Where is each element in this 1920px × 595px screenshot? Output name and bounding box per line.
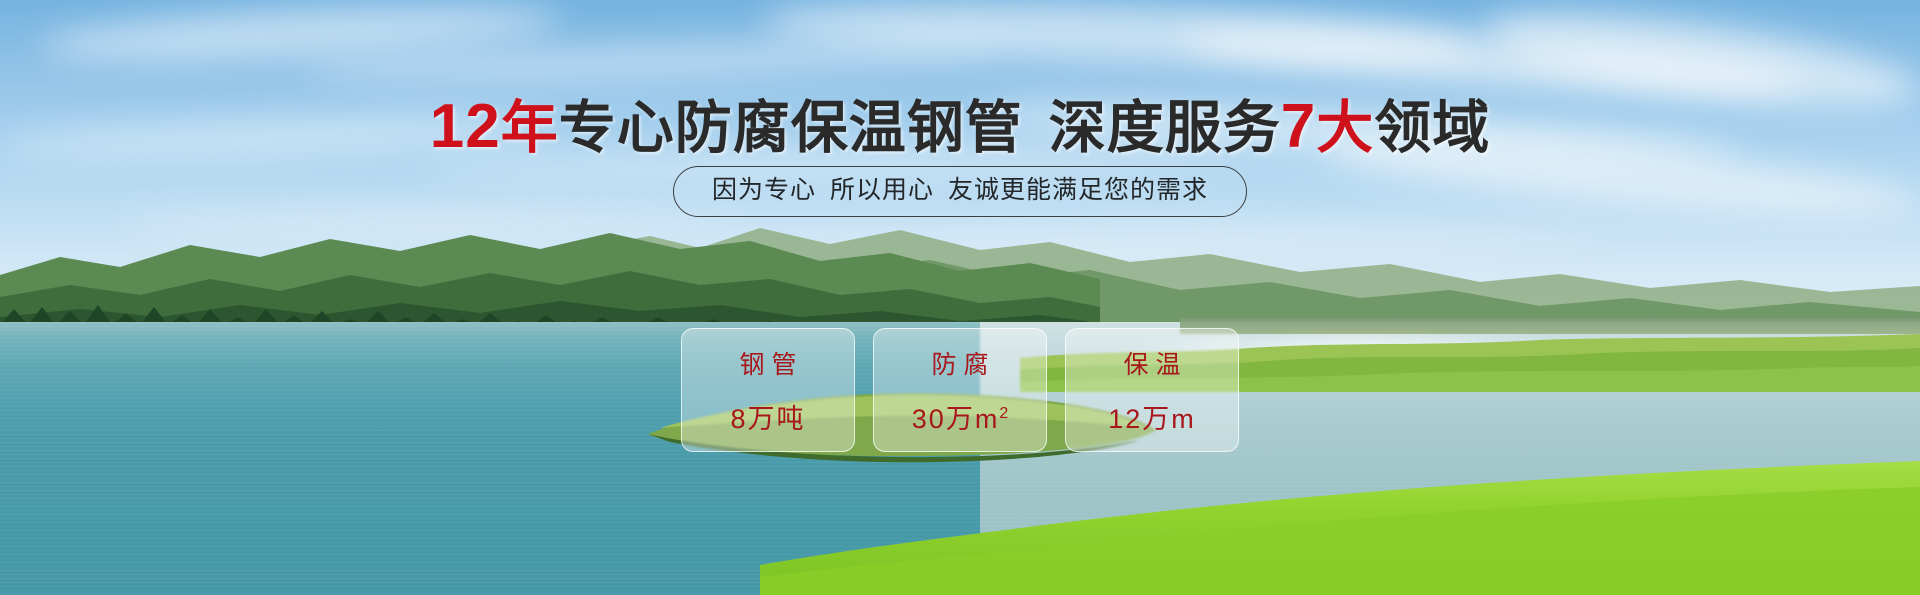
banner-subtitle-wrapper: 因为专心所以用心友诚更能满足您的需求 [0,166,1920,217]
stat-card-anticorrosion: 防腐 30万m2 [873,328,1047,452]
headline-highlight-unit: 大 [1316,96,1374,160]
subtitle-segment-two: 所以用心 [830,176,934,204]
subtitle-segment-three: 友诚更能满足您的需求 [948,176,1208,204]
banner-headline: 12年专心防腐保温钢管深度服务7大领域 [0,82,1920,164]
headline-part-three: 领域 [1374,96,1490,160]
stat-card-value: 30万m2 [912,397,1008,436]
headline-highlight-number: 7 [1281,92,1316,161]
stat-card-steel-pipe: 钢管 8万吨 [681,328,855,452]
promo-banner: 12年专心防腐保温钢管深度服务7大领域 因为专心所以用心友诚更能满足您的需求 钢… [0,0,1920,595]
banner-content: 12年专心防腐保温钢管深度服务7大领域 因为专心所以用心友诚更能满足您的需求 钢… [0,0,1920,595]
stat-card-value-text: 30万m [912,404,1000,434]
stat-card-value: 12万m [1108,397,1196,436]
stat-card-value-superscript: 2 [999,405,1008,422]
stat-card-label: 保温 [1116,345,1187,381]
banner-subtitle-pill: 因为专心所以用心友诚更能满足您的需求 [673,166,1247,217]
headline-years-number: 12 [430,92,501,161]
stat-card-insulation: 保温 12万m [1065,328,1239,452]
headline-part-one: 专心防腐保温钢管 [559,96,1023,160]
stat-card-label: 防腐 [924,345,995,381]
stat-card-label: 钢管 [732,345,803,381]
subtitle-segment-one: 因为专心 [712,176,816,204]
headline-part-two: 深度服务 [1049,96,1281,160]
headline-years-unit: 年 [501,96,559,160]
stat-card-group: 钢管 8万吨 防腐 30万m2 保温 12万m [0,328,1920,452]
stat-card-value: 8万吨 [730,397,805,436]
